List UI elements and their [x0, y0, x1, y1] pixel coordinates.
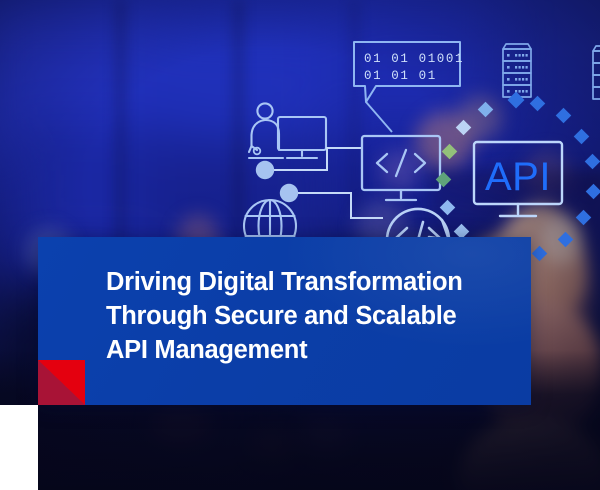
headline-panel: Driving Digital Transformation Through S… [38, 237, 531, 405]
api-screen-label: API [485, 155, 551, 199]
red-accent-mark [38, 360, 85, 405]
binary-line-1: 01 01 01001 [364, 52, 464, 66]
banner-image: 01 01 01001 01 01 01 [0, 0, 600, 490]
white-corner-block [0, 405, 38, 490]
page-title: Driving Digital Transformation Through S… [106, 265, 506, 367]
binary-line-2: 01 01 01 [364, 69, 437, 83]
api-monitor-icon: API [472, 140, 564, 224]
